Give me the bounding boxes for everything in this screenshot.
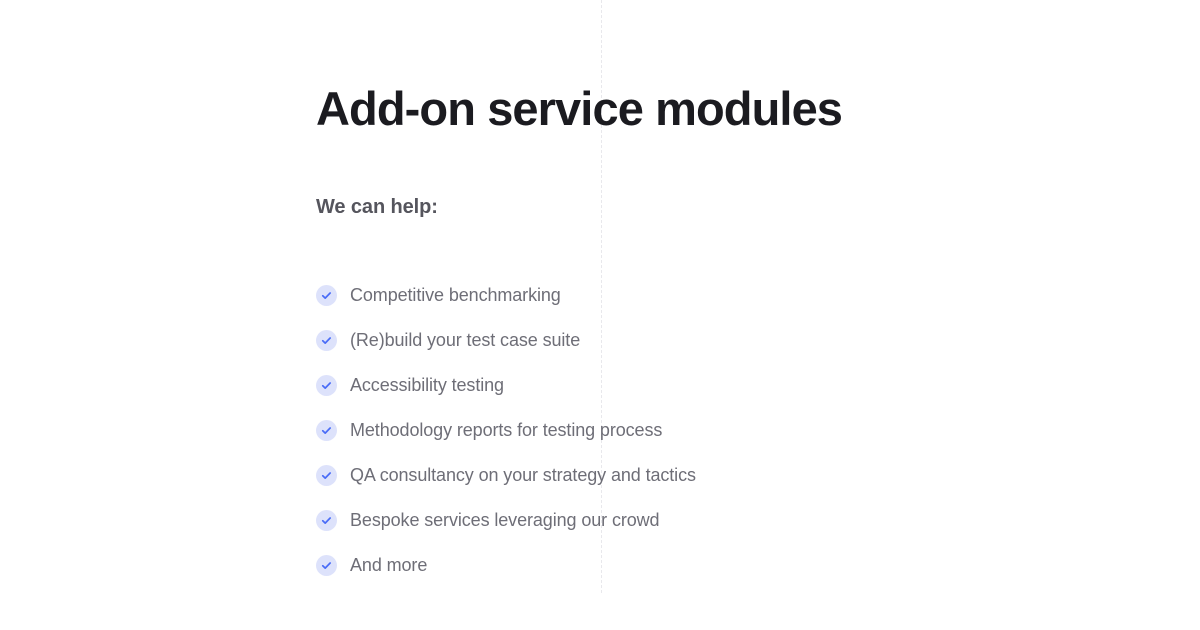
check-circle-icon: [316, 510, 337, 531]
list-item: QA consultancy on your strategy and tact…: [316, 453, 696, 498]
check-circle-icon: [316, 465, 337, 486]
list-item-label: (Re)build your test case suite: [350, 330, 580, 352]
list-item-label: And more: [350, 555, 427, 577]
check-circle-icon: [316, 330, 337, 351]
list-item: Accessibility testing: [316, 363, 696, 408]
list-item: Competitive benchmarking: [316, 273, 696, 318]
checklist: Competitive benchmarking (Re)build your …: [316, 273, 696, 588]
list-item: Bespoke services leveraging our crowd: [316, 498, 696, 543]
check-circle-icon: [316, 420, 337, 441]
check-circle-icon: [316, 375, 337, 396]
list-item: And more: [316, 543, 696, 588]
check-circle-icon: [316, 285, 337, 306]
slide-canvas: Add-on service modules We can help: Comp…: [0, 0, 1200, 630]
list-item: Methodology reports for testing process: [316, 408, 696, 453]
list-item-label: Bespoke services leveraging our crowd: [350, 510, 659, 532]
list-item-label: Competitive benchmarking: [350, 285, 561, 307]
list-item-label: Methodology reports for testing process: [350, 420, 662, 442]
check-circle-icon: [316, 555, 337, 576]
list-item: (Re)build your test case suite: [316, 318, 696, 363]
list-item-label: QA consultancy on your strategy and tact…: [350, 465, 696, 487]
section-label: We can help:: [316, 195, 438, 219]
page-title: Add-on service modules: [316, 84, 842, 133]
list-item-label: Accessibility testing: [350, 375, 504, 397]
content-column: Add-on service modules We can help: Comp…: [316, 0, 1016, 630]
